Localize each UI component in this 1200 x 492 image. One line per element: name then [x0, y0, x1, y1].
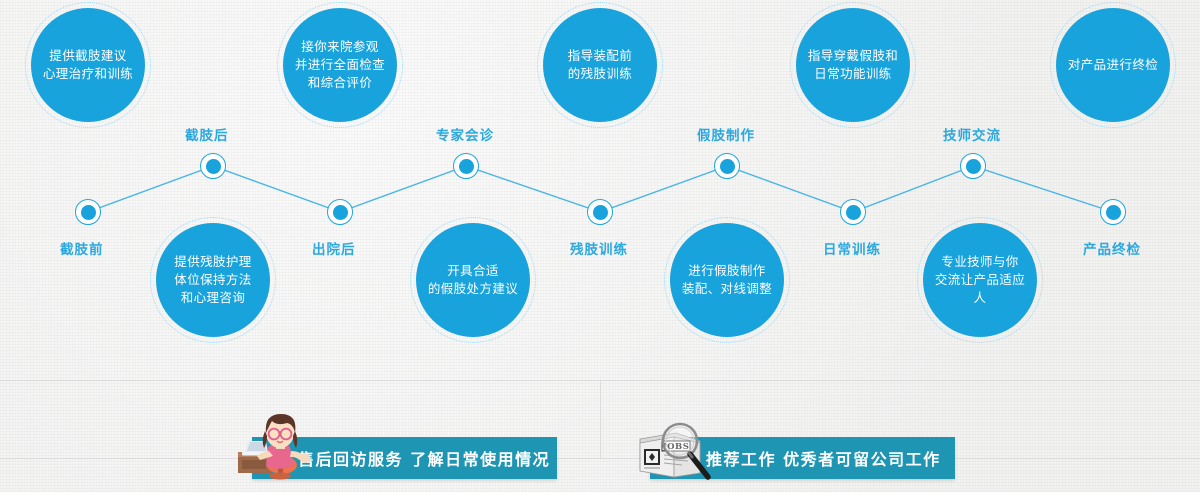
- timeline-node-5[interactable]: [587, 199, 613, 225]
- divider-center-vline: [600, 380, 601, 458]
- timeline-node-9[interactable]: [1100, 199, 1126, 225]
- banner-label: 售后回访服务 了解日常使用情况: [298, 446, 550, 470]
- banner-job-referral[interactable]: 推荐工作 优秀者可留公司工作: [650, 437, 955, 479]
- bubble-text: 专业技师与你 交流让产品适应人: [923, 253, 1037, 307]
- bubble-top-4[interactable]: 指导穿戴假肢和 日常功能训练: [796, 8, 910, 122]
- bubble-bottom-1[interactable]: 提供残肢护理 体位保持方法 和心理咨询: [156, 223, 270, 337]
- timeline-label-3: 出院后: [312, 238, 356, 258]
- bubble-top-5[interactable]: 对产品进行终检: [1056, 8, 1170, 122]
- bubble-text: 开具合适 的假肢处方建议: [420, 262, 526, 298]
- timeline-node-3[interactable]: [327, 199, 353, 225]
- divider-bottom-rule: [0, 458, 1200, 459]
- timeline-label-9: 产品终检: [1083, 238, 1141, 258]
- timeline-node-7[interactable]: [840, 199, 866, 225]
- timeline-label-5: 残肢训练: [570, 238, 628, 258]
- timeline-node-2[interactable]: [200, 153, 226, 179]
- timeline-label-4: 专家会诊: [436, 124, 494, 144]
- bubble-bottom-3[interactable]: 进行假肢制作 装配、对线调整: [670, 223, 784, 337]
- bubble-text: 提供残肢护理 体位保持方法 和心理咨询: [166, 253, 259, 307]
- bubble-top-1[interactable]: 提供截肢建议 心理治疗和训练: [31, 8, 145, 122]
- timeline-label-7: 日常训练: [823, 238, 881, 258]
- bubble-text: 指导装配前 的残肢训练: [560, 47, 641, 83]
- timeline-label-8: 技师交流: [943, 124, 1001, 144]
- bubble-text: 指导穿戴假肢和 日常功能训练: [800, 47, 906, 83]
- bubble-bottom-4[interactable]: 专业技师与你 交流让产品适应人: [923, 223, 1037, 337]
- bubble-top-3[interactable]: 指导装配前 的残肢训练: [543, 8, 657, 122]
- timeline-node-6[interactable]: [714, 153, 740, 179]
- bubble-text: 提供截肢建议 心理治疗和训练: [35, 47, 141, 83]
- bubble-top-2[interactable]: 接你来院参观 并进行全面检查 和综合评价: [283, 8, 397, 122]
- bubble-bottom-2[interactable]: 开具合适 的假肢处方建议: [416, 223, 530, 337]
- timeline-node-4[interactable]: [453, 153, 479, 179]
- bubble-text: 对产品进行终检: [1060, 56, 1166, 74]
- timeline-node-8[interactable]: [960, 153, 986, 179]
- timeline-label-1: 截肢前: [60, 238, 104, 258]
- infographic-canvas: 提供截肢建议 心理治疗和训练 接你来院参观 并进行全面检查 和综合评价 指导装配…: [0, 0, 1200, 492]
- banner-label: 推荐工作 优秀者可留公司工作: [706, 446, 941, 470]
- bubble-text: 进行假肢制作 装配、对线调整: [674, 262, 780, 298]
- bubble-text: 接你来院参观 并进行全面检查 和综合评价: [287, 38, 393, 92]
- banner-after-sales[interactable]: 售后回访服务 了解日常使用情况: [252, 437, 557, 479]
- timeline-label-2: 截肢后: [185, 124, 229, 144]
- timeline-label-6: 假肢制作: [697, 124, 755, 144]
- timeline-node-1[interactable]: [75, 199, 101, 225]
